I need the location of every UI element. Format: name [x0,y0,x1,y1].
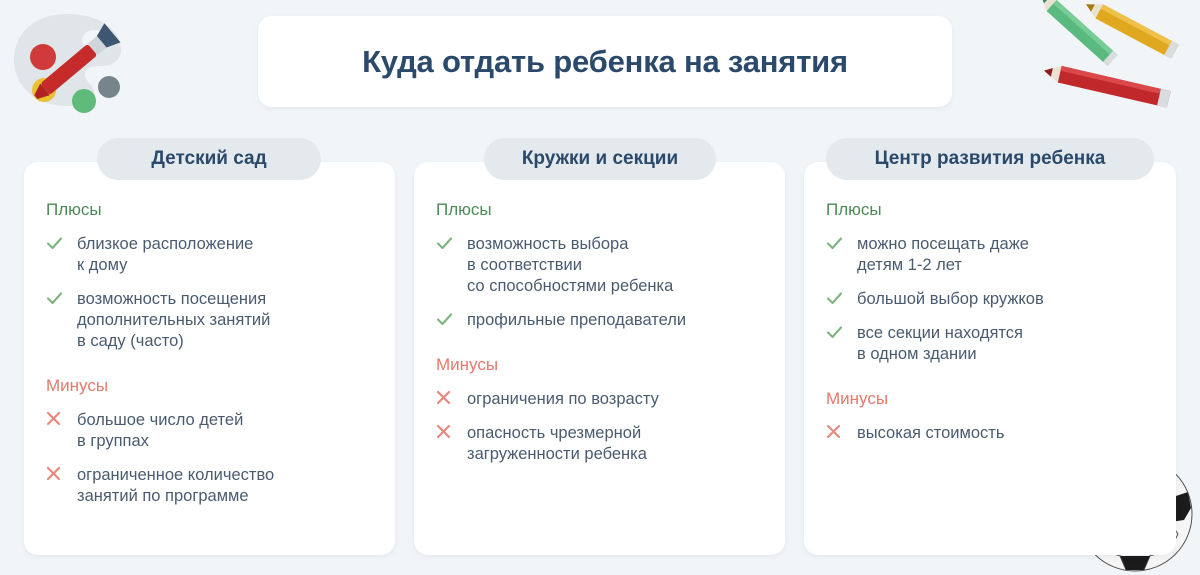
cons-list-0: большое число детей в группах ограниченн… [46,410,373,507]
list-item: опасность чрезмерной загруженности ребен… [436,423,763,465]
list-item-text: возможность выбора в соответствии со спо… [467,234,673,297]
list-item: возможность посещения дополнительных зан… [46,289,373,352]
cons-heading: Минусы [46,376,373,396]
list-item: все секции находятся в одном здании [826,323,1154,365]
list-item: ограничения по возрасту [436,389,763,410]
column-card-development-center: Плюсы можно посещать даже детям 1-2 лет … [804,162,1176,555]
cons-block-2: Минусы высокая стоимость [826,389,1154,444]
check-icon [436,234,458,252]
check-icon [46,289,68,307]
infographic-root: Куда отдать ребенка на занятия Плюсы бли… [0,0,1200,575]
cross-icon [436,389,458,405]
pros-heading: Плюсы [46,200,373,220]
list-item-text: опасность чрезмерной загруженности ребен… [467,423,647,465]
colored-pencils-icon [1026,0,1200,116]
list-item-text: все секции находятся в одном здании [857,323,1023,365]
column-tab-label: Центр развития ребенка [875,148,1106,170]
cross-icon [826,423,848,439]
list-item-text: ограниченное количество занятий по прогр… [77,465,274,507]
column-tab-clubs: Кружки и секции [484,138,716,180]
list-item-text: профильные преподаватели [467,310,686,331]
column-tab-label: Кружки и секции [522,148,678,170]
pros-list-2: можно посещать даже детям 1-2 лет большо… [826,234,1154,365]
list-item: можно посещать даже детям 1-2 лет [826,234,1154,276]
list-item: ограниченное количество занятий по прогр… [46,465,373,507]
list-item: близкое расположение к дому [46,234,373,276]
list-item-text: ограничения по возрасту [467,389,659,410]
cross-icon [46,410,68,426]
cons-block-0: Минусы большое число детей в группах огр… [46,376,373,507]
list-item: высокая стоимость [826,423,1154,444]
list-item-text: большой выбор кружков [857,289,1044,310]
page-title: Куда отдать ребенка на занятия [362,44,848,80]
column-card-clubs: Плюсы возможность выбора в соответствии … [414,162,785,555]
cross-icon [46,465,68,481]
title-card: Куда отдать ребенка на занятия [258,16,952,107]
list-item-text: высокая стоимость [857,423,1004,444]
column-tab-label: Детский сад [151,148,266,170]
column-tab-kindergarten: Детский сад [97,138,321,180]
pros-list-1: возможность выбора в соответствии со спо… [436,234,763,331]
column-tab-development-center: Центр развития ребенка [826,138,1154,180]
list-item: профильные преподаватели [436,310,763,331]
list-item: большое число детей в группах [46,410,373,452]
cons-list-1: ограничения по возрасту опасность чрезме… [436,389,763,465]
pros-list-0: близкое расположение к дому возможность … [46,234,373,352]
list-item: возможность выбора в соответствии со спо… [436,234,763,297]
cons-heading: Минусы [436,355,763,375]
pros-heading: Плюсы [436,200,763,220]
cons-block-1: Минусы ограничения по возрасту опасность… [436,355,763,465]
cons-heading: Минусы [826,389,1154,409]
list-item-text: можно посещать даже детям 1-2 лет [857,234,1029,276]
check-icon [826,323,848,341]
check-icon [436,310,458,328]
check-icon [46,234,68,252]
list-item: большой выбор кружков [826,289,1154,310]
check-icon [826,234,848,252]
paint-palette-icon [6,4,128,116]
check-icon [826,289,848,307]
pros-heading: Плюсы [826,200,1154,220]
cross-icon [436,423,458,439]
column-card-kindergarten: Плюсы близкое расположение к дому возмож… [24,162,395,555]
list-item-text: близкое расположение к дому [77,234,253,276]
list-item-text: большое число детей в группах [77,410,243,452]
cons-list-2: высокая стоимость [826,423,1154,444]
list-item-text: возможность посещения дополнительных зан… [77,289,270,352]
